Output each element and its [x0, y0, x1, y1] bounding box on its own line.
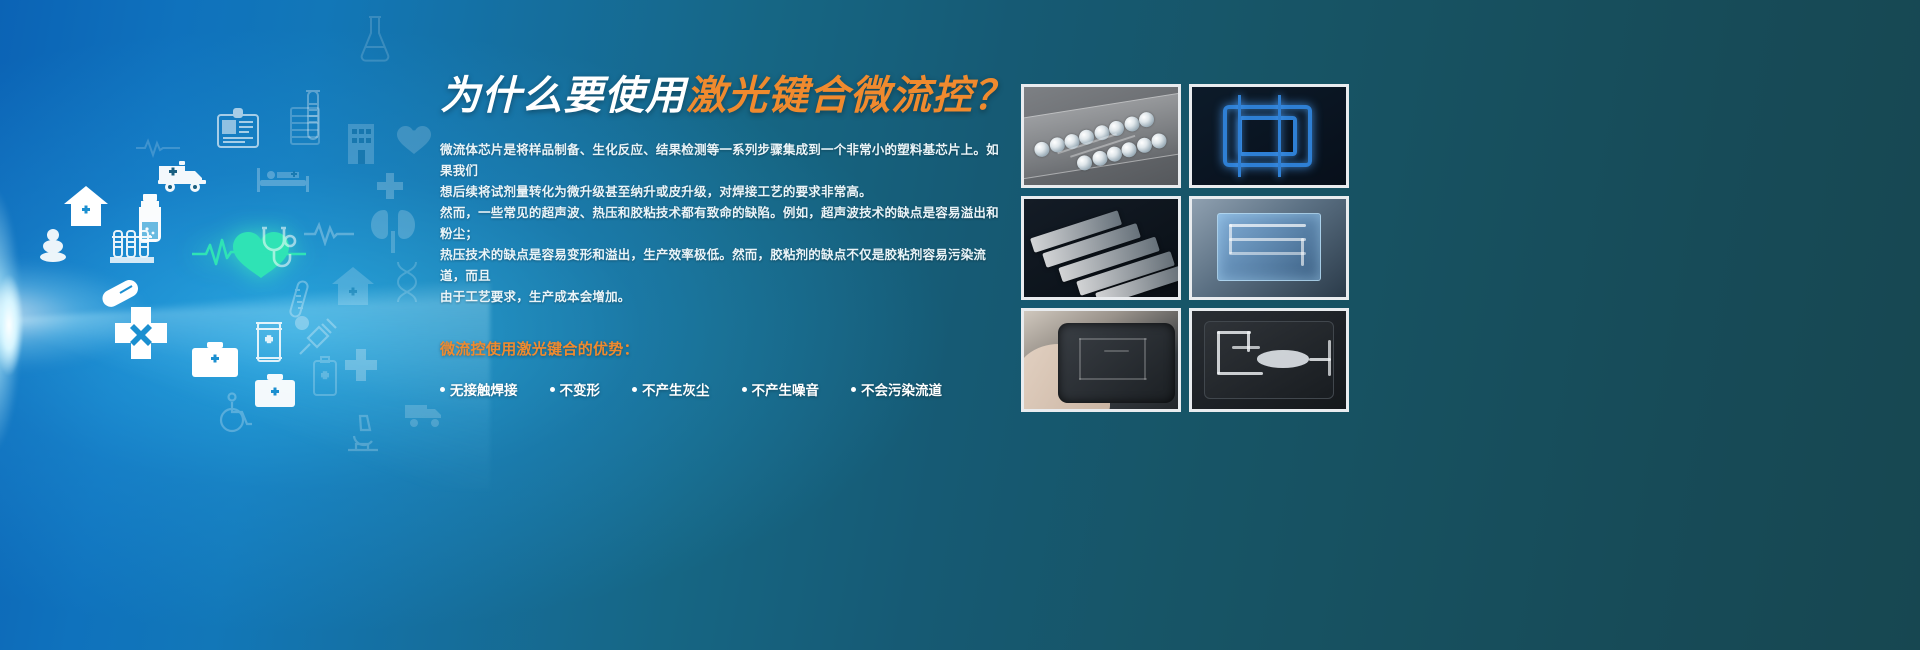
advantages-bullet-list: 无接触焊接 不变形 不产生灰尘 不产生噪音 不会污染流道	[440, 379, 1000, 399]
microscope-icon	[344, 412, 382, 454]
battery-plus-icon	[310, 355, 340, 399]
headline-suffix: ？	[973, 74, 1014, 118]
handheld-black-chip-photo[interactable]	[1021, 308, 1181, 412]
light-source-core-decor	[0, 265, 26, 385]
first-aid-kit-small-icon	[253, 372, 297, 410]
light-beam-glow-decor	[0, 230, 390, 400]
bullet-label: 不变形	[560, 379, 601, 399]
hospital-bed-icon	[255, 162, 311, 194]
paragraph-line: 热压技术的缺点是容易变形和溢出，生产效率极低。然而，胶粘剂的缺点不仅是胶粘剂容易…	[440, 245, 1000, 287]
wheelchair-icon	[215, 392, 255, 434]
thermometer-icon	[287, 278, 311, 332]
black-chip-channel-layout-photo[interactable]	[1189, 308, 1349, 412]
stethoscope-icon	[258, 225, 302, 271]
id-badge-icon	[215, 107, 261, 151]
bullet-dot-icon	[632, 387, 637, 392]
bullet-dot-icon	[440, 387, 445, 392]
bullet-dot-icon	[742, 387, 747, 392]
advantages-subheading: 微流控使用激光键合的优势：	[440, 338, 1000, 359]
pulse-line-icon	[303, 222, 355, 246]
plus-sign-icon	[344, 348, 378, 382]
list-item: 无接触焊接	[440, 379, 518, 399]
medicine-bottle-icon	[132, 192, 168, 244]
test-tube-icon	[303, 88, 323, 146]
dentist-chair-icon	[36, 226, 70, 266]
kidney-icon	[366, 207, 420, 255]
cross-shield-icon	[110, 302, 172, 364]
microfluidic-blue-cartridge-photo[interactable]	[1189, 196, 1349, 300]
list-item: 不产生噪音	[742, 379, 820, 399]
plus-sign-small-icon	[376, 172, 404, 200]
heart-pulse-small-icon	[396, 124, 432, 156]
pulse-line-small-icon	[135, 138, 181, 158]
home-plus-icon	[62, 184, 110, 228]
microfluidic-slides-array-photo[interactable]	[1021, 196, 1181, 300]
home-plus-outline-icon	[330, 265, 376, 307]
ecg-heart-icon	[190, 218, 308, 284]
bullet-label: 不会污染流道	[861, 379, 942, 399]
bullet-label: 无接触焊接	[450, 379, 518, 399]
list-item: 不会污染流道	[851, 379, 942, 399]
bullet-label: 不产生灰尘	[642, 379, 710, 399]
ambulance-icon	[157, 159, 209, 193]
microfluidic-serpentine-channel-photo[interactable]	[1189, 84, 1349, 188]
ambulance-small-icon	[403, 400, 447, 428]
pill-capsule-icon	[98, 274, 142, 312]
paragraph-line: 微流体芯片是将样品制备、生化反应、结果检测等一系列步骤集成到一个非常小的塑料基芯…	[440, 140, 1000, 182]
bullet-label: 不产生噪音	[752, 379, 820, 399]
flask-icon	[358, 14, 392, 64]
microfluidic-chip-wells-photo[interactable]	[1021, 84, 1181, 188]
hospital-building-icon	[345, 118, 377, 166]
first-aid-kit-icon	[190, 340, 240, 380]
light-beam-decor	[0, 150, 490, 490]
medicine-box-icon	[288, 102, 322, 148]
promotional-banner: 为什么要使用激光键合微流控？ 微流体芯片是将样品制备、生化反应、结果检测等一系列…	[0, 0, 1920, 650]
test-tube-rack-icon	[108, 228, 156, 268]
banner-text-content: 为什么要使用激光键合微流控？ 微流体芯片是将样品制备、生化反应、结果检测等一系列…	[440, 74, 1000, 399]
paragraph-line: 由于工艺要求，生产成本会增加。	[440, 287, 1000, 308]
page-title: 为什么要使用激光键合微流控？	[440, 74, 1000, 118]
list-item: 不产生灰尘	[632, 379, 710, 399]
paragraph-line: 想后续将试剂量转化为微升级甚至纳升或皮升级，对焊接工艺的要求非常高。	[440, 182, 1000, 203]
iv-drip-icon	[252, 318, 286, 370]
dna-icon	[392, 260, 422, 304]
intro-paragraph: 微流体芯片是将样品制备、生化反应、结果检测等一系列步骤集成到一个非常小的塑料基芯…	[440, 140, 1000, 308]
product-image-gallery	[1021, 84, 1349, 420]
bullet-dot-icon	[550, 387, 555, 392]
syringe-icon	[296, 315, 340, 359]
list-item: 不变形	[550, 379, 601, 399]
bullet-dot-icon	[851, 387, 856, 392]
paragraph-line: 然而，一些常见的超声波、热压和胶粘技术都有致命的缺陷。例如，超声波技术的缺点是容…	[440, 203, 1000, 245]
headline-emphasis: 激光键合微流控	[686, 74, 973, 118]
headline-lead: 为什么要使用	[440, 74, 686, 118]
